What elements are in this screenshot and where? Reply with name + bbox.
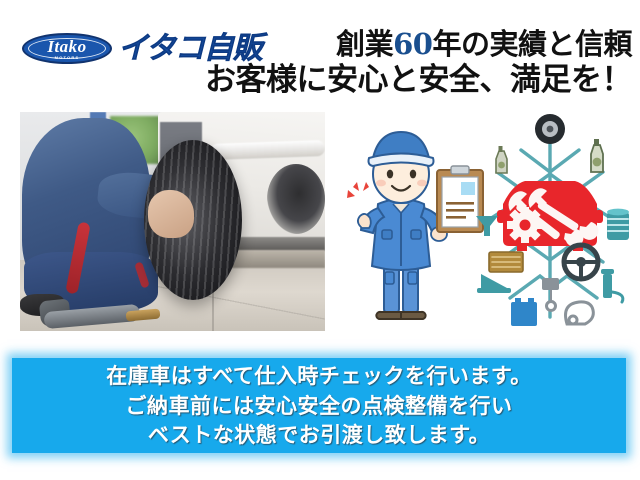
headline-block: 創業60年の実績と信頼 お客様に安心と安全、満足を！ [205, 28, 632, 98]
wheel-icon [535, 114, 565, 144]
seat-icon [566, 302, 594, 324]
radiator-icon [489, 252, 523, 272]
band-text-line-3: ベストな状態でお引渡し致します。 [148, 420, 490, 450]
air-pump-icon [601, 269, 623, 302]
mechanic-character-illustration [347, 132, 483, 319]
logo-oval-emblem: Itako MOTORS [22, 33, 112, 64]
jack-icon [477, 274, 511, 293]
coil-icon [607, 209, 629, 240]
oil-bottle-left-icon [496, 146, 507, 173]
spark-icon [347, 182, 369, 198]
battery-icon [511, 298, 537, 326]
band-text-line-1: 在庫車はすべて仕入時チェックを行います。 [106, 361, 532, 391]
band-text-line-2: ご納車前には安心安全の点検整備を行い [126, 391, 513, 421]
photo-car-wheel-arch [267, 164, 325, 234]
illustration-svg [345, 112, 640, 331]
oil-bottle-right-icon [591, 139, 603, 172]
auto-parts-tree-illustration [476, 114, 629, 326]
headline-suffix: 年の実績と信頼 [432, 27, 632, 61]
photo-mechanic-hand [148, 190, 194, 238]
assurance-message-band: 在庫車はすべて仕入時チェックを行います。 ご納車前には安心安全の点検整備を行い … [12, 358, 626, 453]
headline-years-number: 60 [393, 27, 432, 61]
piston-icon [542, 278, 559, 312]
headline-prefix: 創業 [336, 27, 393, 61]
headline-line-2: お客様に安心と安全、満足を！ [205, 63, 632, 98]
advertisement-banner: Itako MOTORS イタコ自販 創業60年の実績と信頼 お客様に安心と安全… [0, 0, 640, 480]
logo-script-text: Itako [47, 38, 86, 55]
banner-header: Itako MOTORS イタコ自販 創業60年の実績と信頼 お客様に安心と安全… [0, 0, 640, 112]
mechanic-tire-photo [20, 112, 325, 331]
red-car-tools-icon [497, 181, 603, 251]
clipboard-icon [437, 166, 483, 232]
illustration-area [345, 112, 640, 331]
headline-line-1: 創業60年の実績と信頼 [205, 28, 632, 60]
logo-sub-text: MOTORS [55, 55, 80, 60]
